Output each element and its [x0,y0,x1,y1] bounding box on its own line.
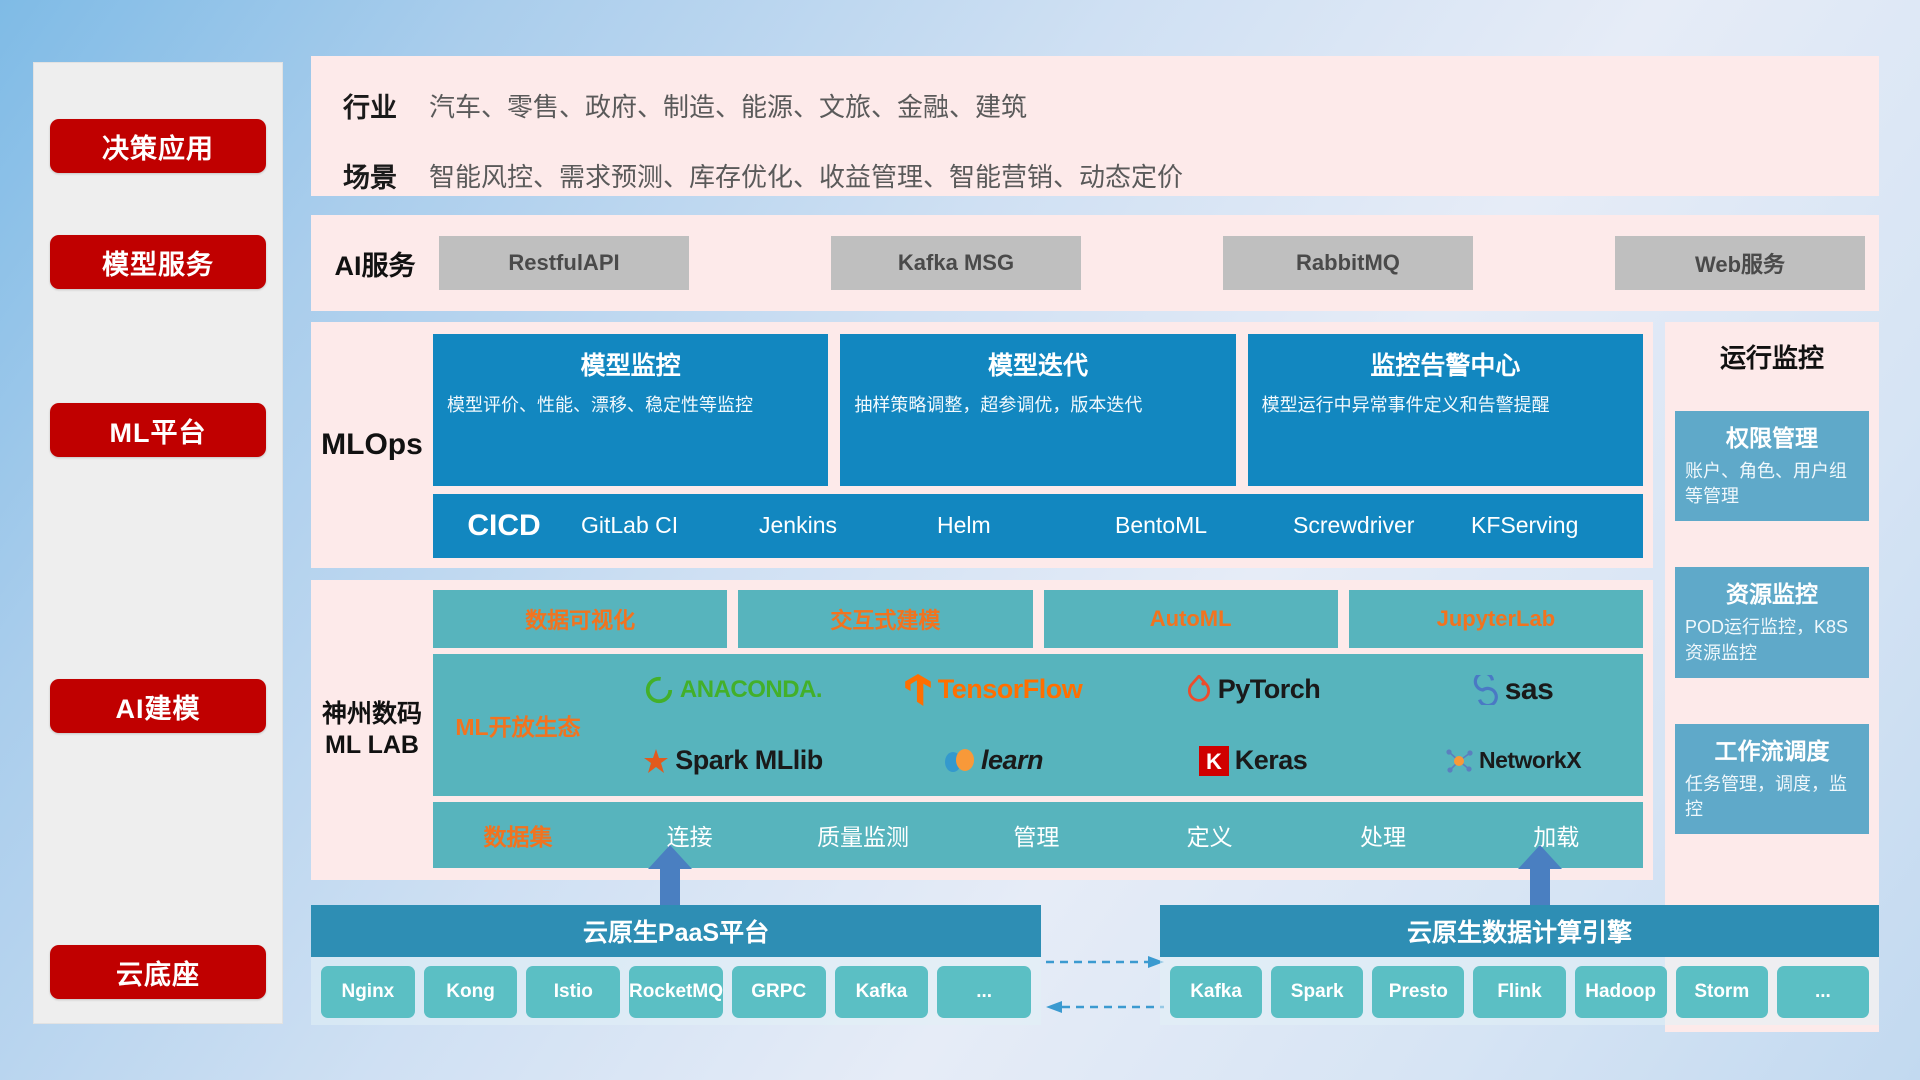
industry-label: 行业 [311,86,429,125]
dataset-item-definition[interactable]: 定义 [1123,818,1296,852]
sidebar-item-model-service[interactable]: 模型服务 [50,235,266,289]
cicd-tool-bentoml[interactable]: BentoML [1109,510,1287,541]
sas-logo-text: sas [1505,673,1554,707]
card-title: 监控告警中心 [1262,346,1629,382]
cloud-data-engine-panel: 云原生数据计算引擎 Kafka Spark Presto Flink Hadoo… [1160,905,1879,1025]
scikit-learn-mark-icon [943,746,975,776]
networkx-graph-icon [1445,747,1473,775]
keras-logo-text: Keras [1235,745,1308,776]
layer-rail: 决策应用 模型服务 ML平台 AI建模 云底座 [33,62,283,1024]
up-arrow-icon-left [648,845,692,909]
lab-feature-data-visualization[interactable]: 数据可视化 [433,590,727,648]
lab-feature-interactive-modeling[interactable]: 交互式建模 [738,590,1032,648]
pytorch-logo: PyTorch [1186,674,1321,705]
architecture-diagram: 决策应用 模型服务 ML平台 AI建模 云底座 行业 汽车、零售、政府、制造、能… [0,0,1920,1080]
industry-row: 行业 汽车、零售、政府、制造、能源、文旅、金融、建筑 [311,56,1879,140]
sidebar-item-decision-app[interactable]: 决策应用 [50,119,266,173]
mlops-card-alert-center[interactable]: 监控告警中心 模型运行中异常事件定义和告警提醒 [1248,334,1643,486]
paas-chip-kafka[interactable]: Kafka [835,966,929,1018]
sas-mark-icon [1473,675,1499,705]
cicd-tool-helm[interactable]: Helm [931,510,1109,541]
service-chip-restfulapi[interactable]: RestfulAPI [439,236,689,290]
sidebar-item-ml-platform[interactable]: ML平台 [50,403,266,457]
sas-logo: sas [1473,673,1554,707]
card-desc: 账户、角色、用户组等管理 [1685,459,1859,509]
card-title: 工作流调度 [1685,732,1859,766]
dataset-row: 数据集 连接 质量监测 管理 定义 处理 加载 [433,802,1643,868]
spark-star-icon [643,748,669,774]
card-desc: 模型评价、性能、漂移、稳定性等监控 [447,392,814,418]
spark-mllib-logo: Spark MLlib [643,745,823,776]
service-chip-web-service[interactable]: Web服务 [1615,236,1865,290]
ai-service-label: AI服务 [311,244,439,283]
engine-chip-kafka[interactable]: Kafka [1170,966,1262,1018]
mlops-card-model-monitoring[interactable]: 模型监控 模型评价、性能、漂移、稳定性等监控 [433,334,828,486]
mlops-card-list: 模型监控 模型评价、性能、漂移、稳定性等监控 模型迭代 抽样策略调整，超参调优，… [433,334,1643,486]
lab-feature-jupyterlab[interactable]: JupyterLab [1349,590,1643,648]
dashed-arrow-icon-right [1046,955,1164,969]
mlops-card-model-iteration[interactable]: 模型迭代 抽样策略调整，超参调优，版本迭代 [840,334,1235,486]
tensorflow-mark-icon [904,674,932,706]
card-desc: 模型运行中异常事件定义和告警提醒 [1262,392,1629,418]
service-chip-rabbitmq[interactable]: RabbitMQ [1223,236,1473,290]
tensorflow-logo: TensorFlow [904,674,1083,706]
ml-lab-label-line2: ML LAB [325,730,419,761]
mlops-panel: MLOps 模型监控 模型评价、性能、漂移、稳定性等监控 模型迭代 抽样策略调整… [311,322,1653,568]
cicd-tool-kfserving[interactable]: KFServing [1465,510,1643,541]
anaconda-mark-icon [644,675,674,705]
dataset-item-list: 连接 质量监测 管理 定义 处理 加载 [603,818,1643,852]
scikit-learn-logo-text: learn [981,745,1043,776]
pytorch-mark-icon [1186,675,1212,705]
sidebar-item-cloud-base[interactable]: 云底座 [50,945,266,999]
dashed-arrow-icon-left [1046,1000,1164,1014]
monitoring-card-resource[interactable]: 资源监控 POD运行监控，K8S资源监控 [1675,567,1869,677]
spark-mllib-logo-text: Spark MLlib [675,745,823,776]
scikit-learn-logo: learn [943,745,1043,776]
monitoring-card-workflow[interactable]: 工作流调度 任务管理，调度，监控 [1675,724,1869,834]
networkx-logo: NetworkX [1445,747,1581,775]
keras-mark-icon: K [1199,746,1229,776]
card-desc: 抽样策略调整，超参调优，版本迭代 [854,392,1221,418]
cicd-tool-jenkins[interactable]: Jenkins [753,510,931,541]
paas-chip-kong[interactable]: Kong [424,966,518,1018]
ai-service-chip-list: RestfulAPI Kafka MSG RabbitMQ Web服务 [439,236,1879,290]
cloud-paas-chip-list: Nginx Kong Istio RocketMQ GRPC Kafka ... [311,957,1041,1027]
ml-lab-feature-row: 数据可视化 交互式建模 AutoML JupyterLab [433,590,1643,648]
ml-lab-label: 神州数码 ML LAB [311,580,433,880]
card-title: 资源监控 [1685,575,1859,609]
up-arrow-icon-right [1518,845,1562,909]
paas-chip-rocketmq[interactable]: RocketMQ [629,966,723,1018]
engine-chip-more[interactable]: ... [1777,966,1869,1018]
dataset-item-quality-monitoring[interactable]: 质量监测 [776,818,949,852]
cicd-tool-gitlab-ci[interactable]: GitLab CI [575,510,753,541]
lab-feature-automl[interactable]: AutoML [1044,590,1338,648]
dataset-item-processing[interactable]: 处理 [1296,818,1469,852]
dataset-label: 数据集 [433,818,603,852]
cloud-paas-panel: 云原生PaaS平台 Nginx Kong Istio RocketMQ GRPC… [311,905,1041,1025]
engine-chip-presto[interactable]: Presto [1372,966,1464,1018]
networkx-logo-text: NetworkX [1479,747,1581,774]
svg-text:K: K [1206,749,1222,774]
paas-chip-nginx[interactable]: Nginx [321,966,415,1018]
paas-chip-more[interactable]: ... [937,966,1031,1018]
engine-chip-hadoop[interactable]: Hadoop [1575,966,1667,1018]
ecosystem-logo-grid: ANACONDA. TensorFlow PyTorch sas Spark M [603,654,1643,796]
service-chip-kafka-msg[interactable]: Kafka MSG [831,236,1081,290]
mlops-label: MLOps [311,322,433,568]
anaconda-logo-text: ANACONDA. [680,676,822,704]
engine-chip-storm[interactable]: Storm [1676,966,1768,1018]
sidebar-item-ai-modeling[interactable]: AI建模 [50,679,266,733]
paas-chip-istio[interactable]: Istio [526,966,620,1018]
cicd-tool-list: GitLab CI Jenkins Helm BentoML Screwdriv… [575,510,1643,541]
scene-row: 场景 智能风控、需求预测、库存优化、收益管理、智能营销、动态定价 [311,140,1879,210]
ecosystem-label: ML开放生态 [433,708,603,742]
cicd-bar: CICD GitLab CI Jenkins Helm BentoML Scre… [433,494,1643,558]
card-title: 权限管理 [1685,419,1859,453]
engine-chip-flink[interactable]: Flink [1473,966,1565,1018]
pytorch-logo-text: PyTorch [1218,674,1321,705]
cicd-tool-screwdriver[interactable]: Screwdriver [1287,510,1465,541]
industry-value: 汽车、零售、政府、制造、能源、文旅、金融、建筑 [429,87,1027,124]
tensorflow-logo-text: TensorFlow [938,674,1083,705]
monitoring-card-permission[interactable]: 权限管理 账户、角色、用户组等管理 [1675,411,1869,521]
engine-chip-spark[interactable]: Spark [1271,966,1363,1018]
cloud-data-engine-chip-list: Kafka Spark Presto Flink Hadoop Storm ..… [1160,957,1879,1027]
ml-lab-label-line1: 神州数码 [322,699,422,730]
anaconda-logo: ANACONDA. [644,675,822,705]
ai-service-panel: AI服务 RestfulAPI Kafka MSG RabbitMQ Web服务 [311,215,1879,311]
card-desc: POD运行监控，K8S资源监控 [1685,615,1859,665]
card-title: 模型监控 [447,346,814,382]
paas-chip-grpc[interactable]: GRPC [732,966,826,1018]
cloud-paas-title: 云原生PaaS平台 [311,905,1041,957]
card-desc: 任务管理，调度，监控 [1685,772,1859,822]
ml-lab-panel: 神州数码 ML LAB 数据可视化 交互式建模 AutoML JupyterLa… [311,580,1653,880]
cloud-data-engine-title: 云原生数据计算引擎 [1160,905,1879,957]
keras-logo: K Keras [1199,745,1308,776]
application-panel: 行业 汽车、零售、政府、制造、能源、文旅、金融、建筑 场景 智能风控、需求预测、… [311,56,1879,196]
ml-open-ecosystem-row: ML开放生态 ANACONDA. TensorFlow PyTorch sas [433,654,1643,796]
dataset-item-management[interactable]: 管理 [950,818,1123,852]
card-title: 模型迭代 [854,346,1221,382]
monitoring-title: 运行监控 [1665,322,1879,383]
scene-label: 场景 [311,156,429,195]
cicd-label: CICD [433,509,575,543]
scene-value: 智能风控、需求预测、库存优化、收益管理、智能营销、动态定价 [429,157,1183,194]
